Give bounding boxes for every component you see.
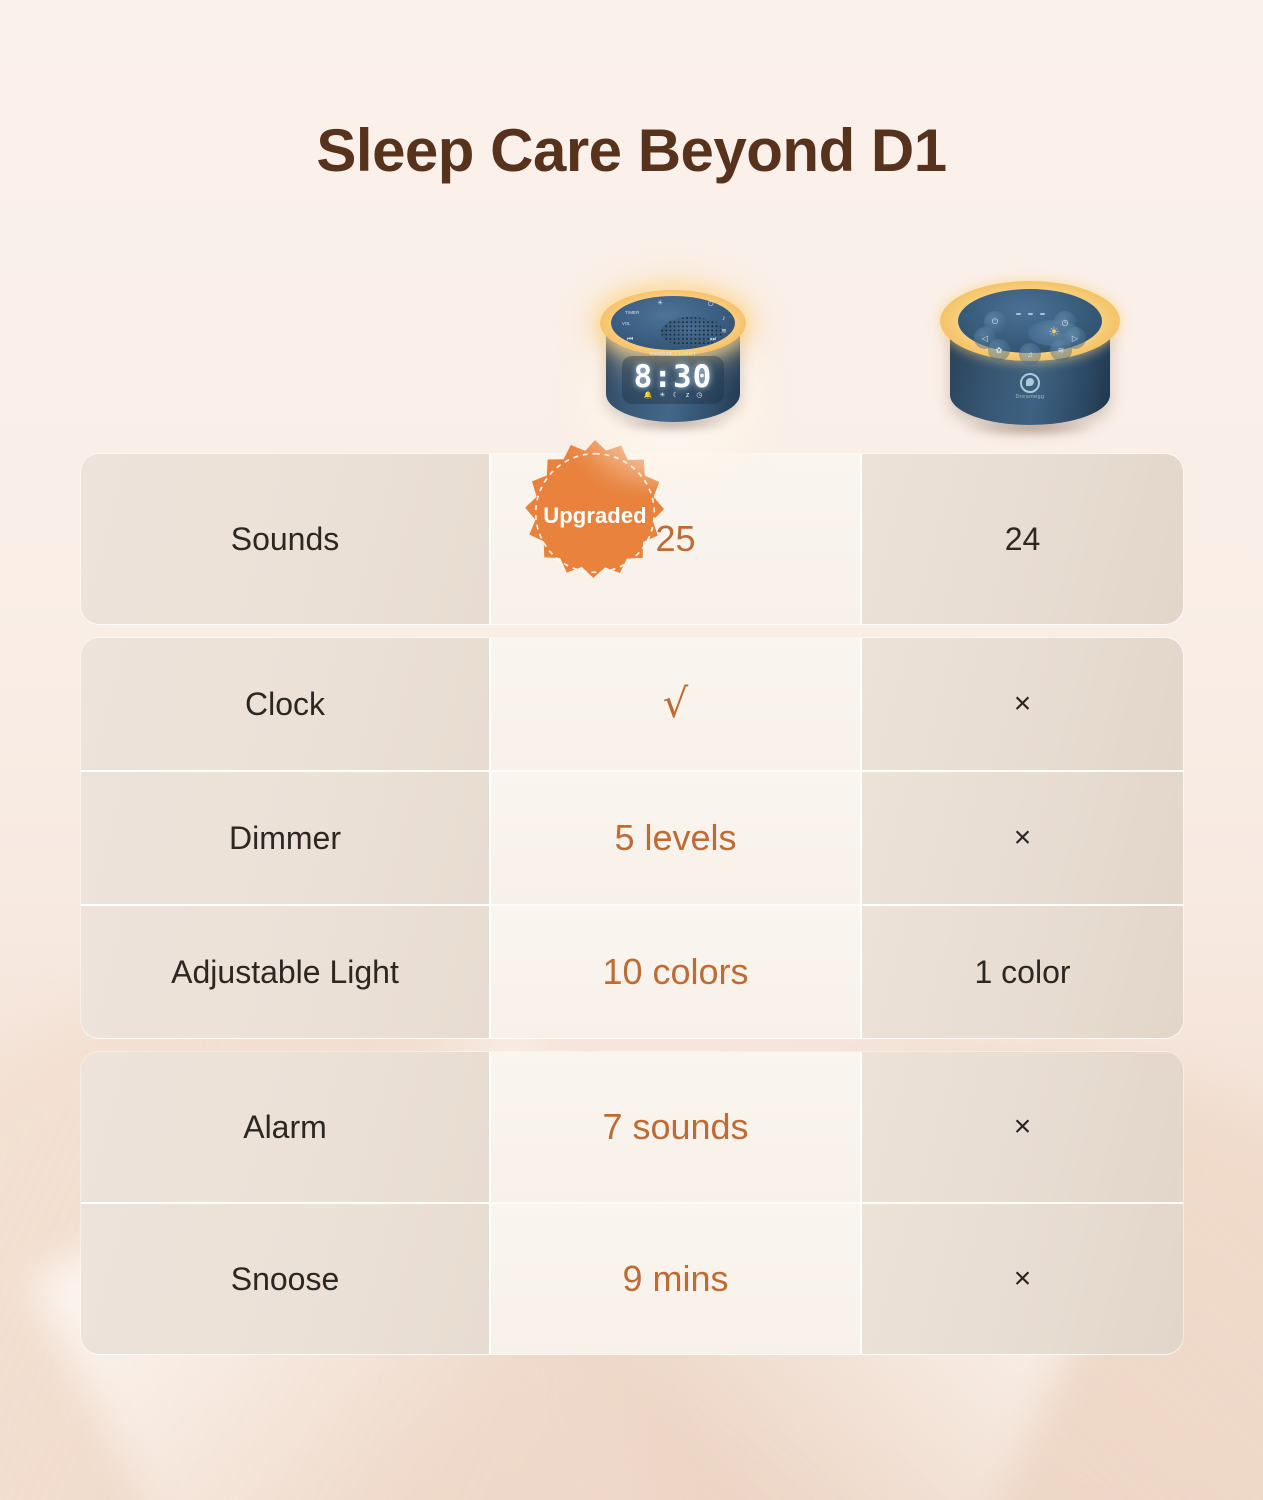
clock-icon: ◷: [696, 392, 702, 399]
sound-wave-icon: ≋: [1050, 339, 1072, 361]
music-note-icon: ♫: [1019, 343, 1041, 365]
cross-icon: ×: [1014, 1112, 1032, 1142]
value-old: ×: [862, 638, 1183, 770]
led-time-value: 8:30: [622, 359, 724, 395]
fan-icon: ✿: [988, 339, 1010, 361]
brand-logo-text: Dreamegg: [934, 394, 1126, 400]
led-display: 8:30 🔔 ☀ ☾ z ◷: [622, 356, 724, 404]
value-old: ×: [862, 1052, 1183, 1202]
sleep-z-icon: z: [686, 392, 690, 399]
led-status-icons: 🔔 ☀ ☾ z ◷: [622, 392, 724, 399]
brightness-icon: ☀: [657, 300, 663, 307]
cross-icon: ×: [1014, 823, 1032, 853]
prev-track-icon: ⏮: [627, 336, 633, 343]
power-icon: ⏻: [708, 301, 714, 308]
product-old-model: ☀ ⏻ ◷ ◁ ▷ ✿ ♫ ≋ Dreamegg: [934, 269, 1126, 454]
next-track-icon: ⏭: [710, 336, 716, 343]
bell-icon: 🔔: [644, 392, 653, 399]
feature-label: Alarm: [81, 1052, 489, 1202]
brand-logo-mark-icon: [1020, 373, 1040, 393]
check-icon: √: [663, 684, 689, 724]
table-row: Alarm 7 sounds ×: [81, 1052, 1183, 1202]
indicator-dots: [958, 313, 1102, 315]
value-new: √: [489, 638, 862, 770]
value-old: 1 color: [862, 906, 1183, 1038]
value-new: 10 colors: [489, 906, 862, 1038]
table-row: Adjustable Light 10 colors 1 color: [81, 904, 1183, 1038]
feature-label: Clock: [81, 638, 489, 770]
table-row: Dimmer 5 levels ×: [81, 770, 1183, 904]
value-old: 24: [862, 454, 1183, 624]
table-row: Clock √ ×: [81, 638, 1183, 770]
sun-icon: ☀: [659, 392, 665, 399]
sound-wave-icon: ≋: [721, 328, 727, 335]
value-new: 5 levels: [489, 772, 862, 904]
timer-icon: TIMER: [625, 311, 639, 316]
comparison-group-3: AFTER Alarm 7 sounds × Snoose 9 mins ×: [81, 1052, 1183, 1354]
table-row: Snoose 9 mins ×: [81, 1202, 1183, 1354]
moon-icon: ☾: [673, 392, 679, 399]
product-new-d1: ☀ ⏻ ♪ ≋ TIMER VOL ⏮ ⏭ SNOOZE / LIGHT 8:3…: [592, 284, 754, 454]
feature-label: Snoose: [81, 1204, 489, 1354]
product-image-row: Upgraded ☀ ⏻ ♪ ≋ TIMER VOL ⏮ ⏭ SNOOZE / …: [0, 215, 1263, 465]
value-new: 9 mins: [489, 1204, 862, 1354]
brand-logo: Dreamegg: [934, 373, 1126, 400]
feature-label: Dimmer: [81, 772, 489, 904]
product-old-top-panel: ☀ ⏻ ◷ ◁ ▷ ✿ ♫ ≋: [958, 289, 1102, 353]
feature-label: Adjustable Light: [81, 906, 489, 1038]
music-note-icon: ♪: [722, 315, 726, 322]
page-title: Sleep Care Beyond D1: [0, 116, 1263, 185]
cross-icon: ×: [1014, 1264, 1032, 1294]
product-top-panel: ☀ ⏻ ♪ ≋ TIMER VOL ⏮ ⏭ SNOOZE / LIGHT: [611, 296, 735, 350]
value-old: ×: [862, 772, 1183, 904]
feature-label: Sounds: [81, 454, 489, 624]
cross-icon: ×: [1014, 689, 1032, 719]
value-new: 7 sounds: [489, 1052, 862, 1202]
value-old: ×: [862, 1204, 1183, 1354]
volume-icon: VOL: [622, 322, 630, 326]
comparison-group-2: DURING Clock √ × Dimmer 5 levels × Adjus…: [81, 638, 1183, 1038]
